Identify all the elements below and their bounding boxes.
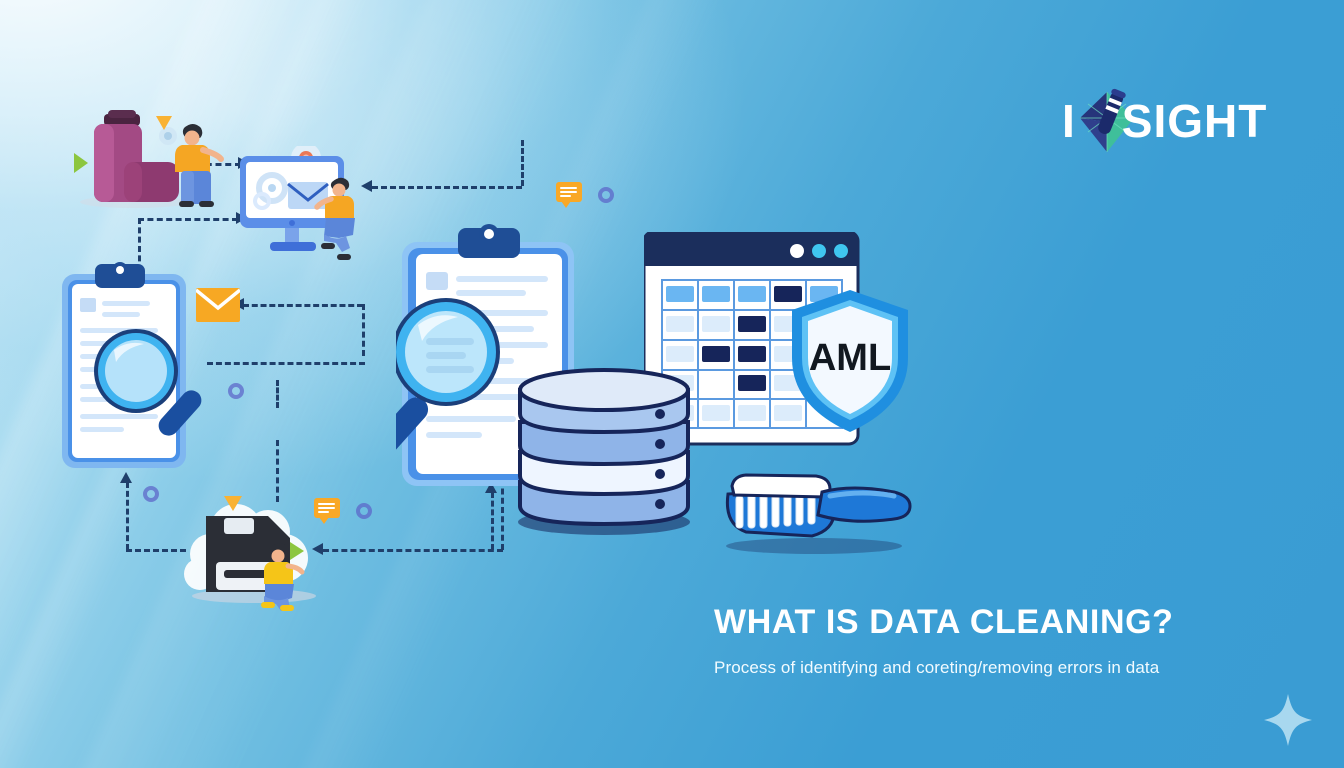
window-dot-cyan bbox=[812, 244, 826, 258]
poster-canvas: AML bbox=[0, 0, 1344, 768]
cleaning-brush bbox=[718, 472, 918, 554]
window-dot-cyan bbox=[834, 244, 848, 258]
database-stack bbox=[508, 364, 700, 536]
speech-bubble-icon bbox=[556, 182, 582, 202]
aml-shield-label: AML bbox=[809, 337, 891, 379]
logo-prefix: I bbox=[1062, 95, 1076, 147]
decor-ring bbox=[143, 486, 159, 502]
logo-suffix: SIGHT bbox=[1122, 95, 1268, 147]
sparkle-icon bbox=[1262, 692, 1314, 748]
aml-shield: AML bbox=[786, 286, 910, 432]
page-subtitle: Process of identifying and coreting/remo… bbox=[714, 658, 1274, 678]
headline-block: WHAT IS DATA CLEANING? Process of identi… bbox=[714, 600, 1274, 678]
envelope-icon bbox=[196, 288, 238, 320]
decor-ring bbox=[356, 503, 372, 519]
purple-device-group bbox=[72, 100, 262, 210]
desktop-monitor-group bbox=[236, 146, 366, 264]
page-title: WHAT IS DATA CLEANING? bbox=[714, 600, 1274, 644]
decor-ring bbox=[598, 187, 614, 203]
logo-wordmark: ISIGHT bbox=[1062, 90, 1257, 152]
save-floppy-disk-group bbox=[172, 492, 332, 610]
insight-logo[interactable]: ISIGHT bbox=[1062, 84, 1257, 160]
window-dot-white bbox=[790, 244, 804, 258]
